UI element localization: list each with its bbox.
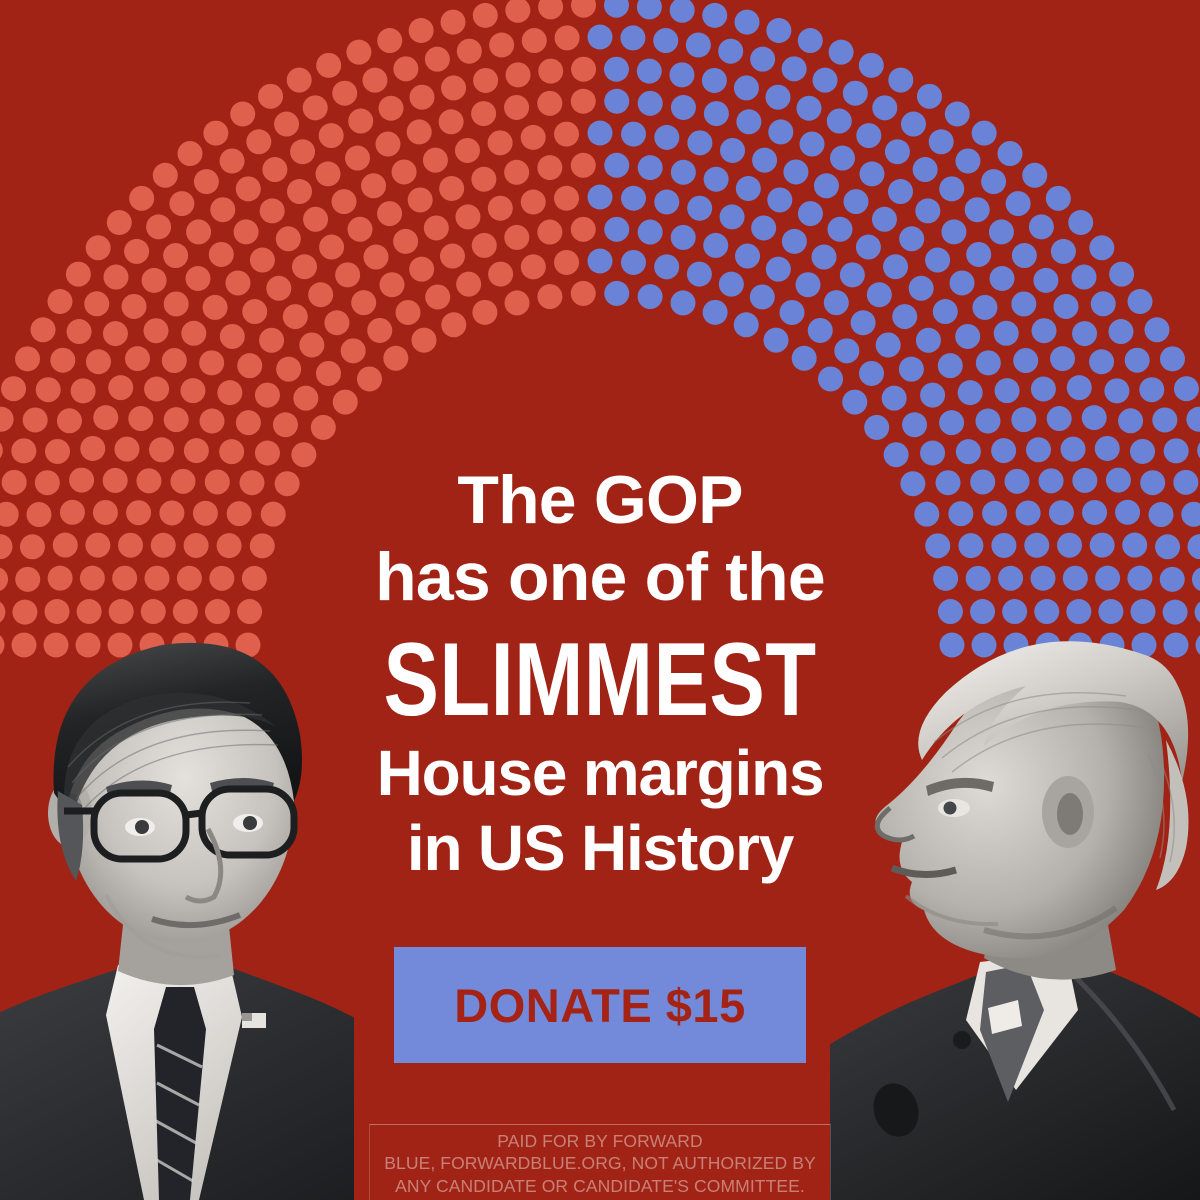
seat-dot xyxy=(259,328,284,353)
seat-dot xyxy=(172,633,197,658)
seat-dot xyxy=(144,377,169,402)
seat-dot xyxy=(237,353,262,378)
seat-dot xyxy=(488,130,513,155)
seat-dot xyxy=(720,138,745,163)
seat-dot xyxy=(1049,500,1074,525)
seat-dot xyxy=(1163,600,1188,625)
seat-dot xyxy=(173,599,198,624)
seat-dot xyxy=(129,186,154,211)
seat-dot xyxy=(299,332,324,357)
seat-dot xyxy=(159,500,184,525)
seat-dot xyxy=(1091,291,1116,316)
seat-dot xyxy=(316,161,341,186)
seat-dot xyxy=(670,290,695,315)
seat-dot xyxy=(456,272,481,297)
seat-dot xyxy=(210,197,235,222)
seat-dot xyxy=(1072,468,1097,493)
seat-dot xyxy=(1132,633,1157,658)
disclaimer-line-3: ANY CANDIDATE OR CANDIDATE'S COMMITTEE. xyxy=(374,1175,826,1197)
seat-dot xyxy=(439,176,464,201)
seat-dot xyxy=(1006,191,1031,216)
seat-dot xyxy=(882,386,907,411)
seat-dot xyxy=(71,378,96,403)
seat-dot xyxy=(126,500,151,525)
seat-dot xyxy=(948,501,973,526)
seat-dot xyxy=(136,468,161,493)
seat-dot xyxy=(220,148,245,173)
seat-dot xyxy=(392,159,417,184)
seat-dot xyxy=(521,125,546,150)
seat-dot xyxy=(1181,502,1200,527)
seat-dot xyxy=(203,295,228,320)
seat-dot xyxy=(1106,468,1131,493)
seat-dot xyxy=(537,220,562,245)
seat-dot xyxy=(1,376,26,401)
seat-dot xyxy=(0,633,5,658)
seat-dot xyxy=(1140,470,1165,495)
seat-dot xyxy=(471,101,496,126)
seat-dot xyxy=(830,146,855,171)
seat-dot xyxy=(671,95,696,120)
donate-button[interactable]: DONATE $15 xyxy=(394,947,806,1063)
seat-dot xyxy=(1050,346,1075,371)
seat-dot xyxy=(751,215,776,240)
seat-dot xyxy=(209,242,234,267)
seat-dot xyxy=(471,167,496,192)
seat-dot xyxy=(621,186,646,211)
seat-dot xyxy=(902,412,927,437)
seat-dot xyxy=(829,40,854,65)
seat-dot xyxy=(670,0,695,23)
seat-dot xyxy=(236,176,261,201)
seat-dot xyxy=(60,500,85,525)
seat-dot xyxy=(383,346,408,371)
portrait-left-mike-johnson xyxy=(0,615,354,1200)
seat-dot xyxy=(827,109,852,134)
seat-dot xyxy=(1032,318,1057,343)
seat-dot xyxy=(1051,239,1076,264)
seat-dot xyxy=(169,191,194,216)
seat-dot xyxy=(255,383,280,408)
seat-dot xyxy=(620,25,645,50)
seat-dot xyxy=(1127,566,1152,591)
seat-dot xyxy=(237,599,262,624)
seat-dot xyxy=(332,81,357,106)
seat-dot xyxy=(236,410,261,435)
seat-dot xyxy=(23,407,48,432)
seat-dot xyxy=(0,502,19,527)
seat-dot xyxy=(872,207,897,232)
seat-dot xyxy=(538,59,563,84)
seat-dot xyxy=(35,470,60,495)
seat-dot xyxy=(990,266,1015,291)
seat-dot xyxy=(145,566,170,591)
seat-dot xyxy=(1047,406,1072,431)
seat-dot xyxy=(687,196,712,221)
seat-dot xyxy=(654,254,679,279)
seat-dot xyxy=(227,501,252,526)
seat-dot xyxy=(341,338,366,363)
seat-dot xyxy=(380,272,405,297)
seat-dot xyxy=(925,533,950,558)
seat-dot xyxy=(220,324,245,349)
seat-dot xyxy=(900,471,925,496)
seat-dot xyxy=(77,599,102,624)
seat-dot xyxy=(1095,566,1120,591)
seat-dot xyxy=(654,125,679,150)
seat-dot xyxy=(1104,378,1129,403)
seat-dot xyxy=(521,254,546,279)
seat-dot xyxy=(114,437,139,462)
seat-dot xyxy=(537,91,562,116)
seat-dot xyxy=(851,310,876,335)
seat-dot xyxy=(798,28,823,53)
seat-dot xyxy=(687,130,712,155)
seat-dot xyxy=(316,361,341,386)
seat-dot xyxy=(621,122,646,147)
seat-dot xyxy=(332,189,357,214)
seat-dot xyxy=(867,282,892,307)
seat-dot xyxy=(718,39,743,64)
seat-dot xyxy=(357,366,382,391)
seat-dot xyxy=(859,361,884,386)
seat-dot xyxy=(1067,375,1092,400)
seat-dot xyxy=(768,119,793,144)
seat-dot xyxy=(396,300,421,325)
seat-dot xyxy=(303,95,328,120)
seat-dot xyxy=(1164,633,1189,658)
seat-dot xyxy=(571,57,596,82)
seat-dot xyxy=(955,148,980,173)
headline: The GOP has one of the SLIMMEST House ma… xyxy=(0,462,1200,887)
seat-dot xyxy=(140,633,165,658)
seat-dot xyxy=(473,3,498,28)
seat-dot xyxy=(538,0,563,19)
seat-dot xyxy=(704,101,729,126)
seat-dot xyxy=(0,438,3,463)
seat-dot xyxy=(44,633,69,658)
seat-dot xyxy=(364,245,389,270)
seat-dot xyxy=(177,566,202,591)
seat-dot xyxy=(15,567,40,592)
seat-dot xyxy=(184,438,209,463)
seat-dot xyxy=(69,468,94,493)
seat-dot xyxy=(151,533,176,558)
seat-dot xyxy=(654,190,679,215)
seat-dot xyxy=(1031,377,1056,402)
seat-dot xyxy=(48,566,73,591)
seat-dot xyxy=(1195,600,1200,625)
seat-dot xyxy=(1026,437,1051,462)
seat-dot xyxy=(76,633,101,658)
seat-dot xyxy=(275,471,300,496)
seat-dot xyxy=(883,254,908,279)
seat-dot xyxy=(0,407,14,432)
seat-dot xyxy=(860,161,885,186)
seat-dot xyxy=(504,225,529,250)
seat-dot xyxy=(457,39,482,64)
seat-dot xyxy=(736,176,761,201)
seat-dot xyxy=(571,153,596,178)
seat-dot xyxy=(925,248,950,273)
seat-dot xyxy=(112,566,137,591)
seat-dot xyxy=(888,179,913,204)
seat-dot xyxy=(604,89,629,114)
seat-dot xyxy=(571,217,596,242)
seat-dot xyxy=(473,68,498,93)
headline-line-1: The GOP xyxy=(0,462,1200,539)
seat-dot xyxy=(588,185,613,210)
seat-dot xyxy=(994,321,1019,346)
seat-dot xyxy=(348,217,373,242)
seat-dot xyxy=(856,123,881,148)
seat-dot xyxy=(118,533,143,558)
seat-dot xyxy=(840,262,865,287)
seat-dot xyxy=(970,599,995,624)
seat-dot xyxy=(455,204,480,229)
seat-dot xyxy=(246,129,271,154)
seat-dot xyxy=(1100,633,1125,658)
seat-dot xyxy=(1034,599,1059,624)
seat-dot xyxy=(824,290,849,315)
seat-dot xyxy=(1057,533,1082,558)
seat-dot xyxy=(638,284,663,309)
seat-dot xyxy=(843,81,868,106)
seat-dot xyxy=(1031,566,1056,591)
seat-dot xyxy=(409,257,434,282)
seat-dot xyxy=(234,219,259,244)
seat-dot xyxy=(45,599,70,624)
seat-dot xyxy=(765,85,790,110)
seat-dot xyxy=(345,146,370,171)
seat-dot xyxy=(872,95,897,120)
seat-dot xyxy=(186,219,211,244)
seat-dot xyxy=(588,25,613,50)
seat-dot xyxy=(361,173,386,198)
seat-dot xyxy=(1164,438,1189,463)
seat-dot xyxy=(750,284,775,309)
seat-dot xyxy=(571,0,596,18)
seat-dot xyxy=(998,566,1023,591)
seat-dot xyxy=(859,53,884,78)
seat-dot xyxy=(319,123,344,148)
seat-dot xyxy=(1125,348,1150,373)
seat-dot xyxy=(521,190,546,215)
seat-dot xyxy=(537,155,562,180)
seat-dot xyxy=(103,265,128,290)
seat-dot xyxy=(199,350,224,375)
seat-dot xyxy=(109,599,134,624)
seat-dot xyxy=(1053,294,1078,319)
seat-dot xyxy=(407,119,432,144)
seat-dot xyxy=(423,148,448,173)
seat-dot xyxy=(335,262,360,287)
seat-dot xyxy=(12,633,37,658)
seat-dot xyxy=(920,383,945,408)
seat-dot xyxy=(217,380,242,405)
seat-dot xyxy=(1029,214,1054,239)
seat-dot xyxy=(782,229,807,254)
disclaimer-line-2: BLUE, FORWARDBLUE.ORG, NOT AUTHORIZED BY xyxy=(374,1152,826,1174)
seat-dot xyxy=(554,186,579,211)
seat-dot xyxy=(504,95,529,120)
disclaimer-box: PAID FOR BY FORWARD BLUE, FORWARDBLUE.OR… xyxy=(369,1124,831,1200)
seat-dot xyxy=(108,375,133,400)
seat-dot xyxy=(425,284,450,309)
seat-dot xyxy=(141,599,166,624)
seat-dot xyxy=(752,148,777,173)
seat-dot xyxy=(1187,534,1200,559)
seat-dot xyxy=(84,291,109,316)
headline-line-4: House margins xyxy=(0,736,1200,812)
seat-dot xyxy=(80,436,105,461)
seat-dot xyxy=(1089,235,1114,260)
donate-button-label: DONATE $15 xyxy=(454,978,745,1033)
seat-dot xyxy=(26,502,51,527)
seat-dot xyxy=(57,408,82,433)
seat-dot xyxy=(916,328,941,353)
seat-dot xyxy=(1004,633,1029,658)
seat-dot xyxy=(766,18,791,43)
seat-dot xyxy=(12,600,37,625)
seat-dot xyxy=(950,270,975,295)
seat-dot xyxy=(239,470,264,495)
seat-dot xyxy=(669,62,694,87)
seat-dot xyxy=(844,189,869,214)
seat-dot xyxy=(488,262,513,287)
seat-dot xyxy=(972,121,997,146)
seat-dot xyxy=(287,179,312,204)
seat-dot xyxy=(915,198,940,223)
seat-dot xyxy=(1149,502,1174,527)
seat-dot xyxy=(193,501,218,526)
seat-dot xyxy=(440,244,465,269)
seat-dot xyxy=(604,281,629,306)
seat-dot xyxy=(1109,262,1134,287)
seat-dot xyxy=(194,169,219,194)
seat-dot xyxy=(1072,321,1097,346)
seat-dot xyxy=(958,533,983,558)
seat-dot xyxy=(735,244,760,269)
seat-dot xyxy=(0,534,13,559)
seat-dot xyxy=(638,220,663,245)
seat-dot xyxy=(441,75,466,100)
seat-dot xyxy=(203,121,228,146)
seat-dot xyxy=(734,75,759,100)
seat-dot xyxy=(362,68,387,93)
seat-dot xyxy=(1066,599,1091,624)
seat-dot xyxy=(1012,243,1037,268)
seat-dot xyxy=(375,132,400,157)
seat-dot xyxy=(1005,469,1030,494)
seat-dot xyxy=(204,633,229,658)
seat-dot xyxy=(424,215,449,240)
seat-dot xyxy=(287,68,312,93)
seat-dot xyxy=(764,328,789,353)
seat-dot xyxy=(1130,439,1155,464)
seat-dot xyxy=(1068,633,1093,658)
seat-dot xyxy=(966,242,991,267)
seat-dot xyxy=(1013,348,1038,373)
seat-dot xyxy=(230,102,255,127)
seat-dot xyxy=(217,533,242,558)
seat-dot xyxy=(258,84,283,109)
seat-dot xyxy=(266,276,291,301)
seat-dot xyxy=(250,533,275,558)
seat-dot xyxy=(939,176,964,201)
seat-dot xyxy=(107,210,132,235)
seat-dot xyxy=(472,300,497,325)
seat-dot xyxy=(53,533,78,558)
seat-dot xyxy=(292,254,317,279)
seat-dot xyxy=(750,47,775,72)
seat-dot xyxy=(506,62,531,87)
seat-dot xyxy=(276,357,301,382)
seat-dot xyxy=(703,300,728,325)
seat-dot xyxy=(274,112,299,137)
seat-dot xyxy=(995,378,1020,403)
seat-dot xyxy=(319,235,344,260)
seat-dot xyxy=(333,390,358,415)
seat-dot xyxy=(1011,291,1036,316)
seat-dot xyxy=(66,262,91,287)
seat-dot xyxy=(273,412,298,437)
seat-dot xyxy=(488,196,513,221)
seat-dot xyxy=(324,310,349,335)
seat-dot xyxy=(1174,376,1199,401)
seat-dot xyxy=(153,163,178,188)
seat-dot xyxy=(1072,265,1097,290)
seat-dot xyxy=(93,405,118,430)
seat-dot xyxy=(1022,163,1047,188)
seat-dot xyxy=(408,187,433,212)
seat-dot xyxy=(200,409,225,434)
seat-dot xyxy=(219,439,244,464)
seat-dot xyxy=(1063,566,1088,591)
seat-dot xyxy=(604,153,629,178)
seat-dot xyxy=(981,169,1006,194)
seat-dot xyxy=(489,33,514,58)
seat-dot xyxy=(185,266,210,291)
seat-dot xyxy=(86,349,111,374)
seat-dot xyxy=(163,243,188,268)
seat-dot xyxy=(303,207,328,232)
seat-dot xyxy=(412,328,437,353)
seat-dot xyxy=(162,348,187,373)
seat-dot xyxy=(702,68,727,93)
portrait-right-image xyxy=(830,590,1200,1200)
seat-dot xyxy=(505,290,530,315)
seat-dot xyxy=(736,109,761,134)
seat-dot xyxy=(178,141,203,166)
seat-dot xyxy=(939,410,964,435)
seat-dot xyxy=(261,502,286,527)
seat-dot xyxy=(351,290,376,315)
seat-dot xyxy=(441,10,466,35)
seat-dot xyxy=(856,235,881,260)
seat-dot xyxy=(933,566,958,591)
seat-dot xyxy=(704,167,729,192)
seat-dot xyxy=(1002,599,1027,624)
seat-dot xyxy=(377,28,402,53)
seat-dot xyxy=(604,217,629,242)
seat-dot xyxy=(45,439,70,464)
seat-dot xyxy=(1090,533,1115,558)
seat-dot xyxy=(796,96,821,121)
seat-dot xyxy=(637,0,662,19)
seat-dot xyxy=(164,407,189,432)
seat-dot xyxy=(103,468,128,493)
